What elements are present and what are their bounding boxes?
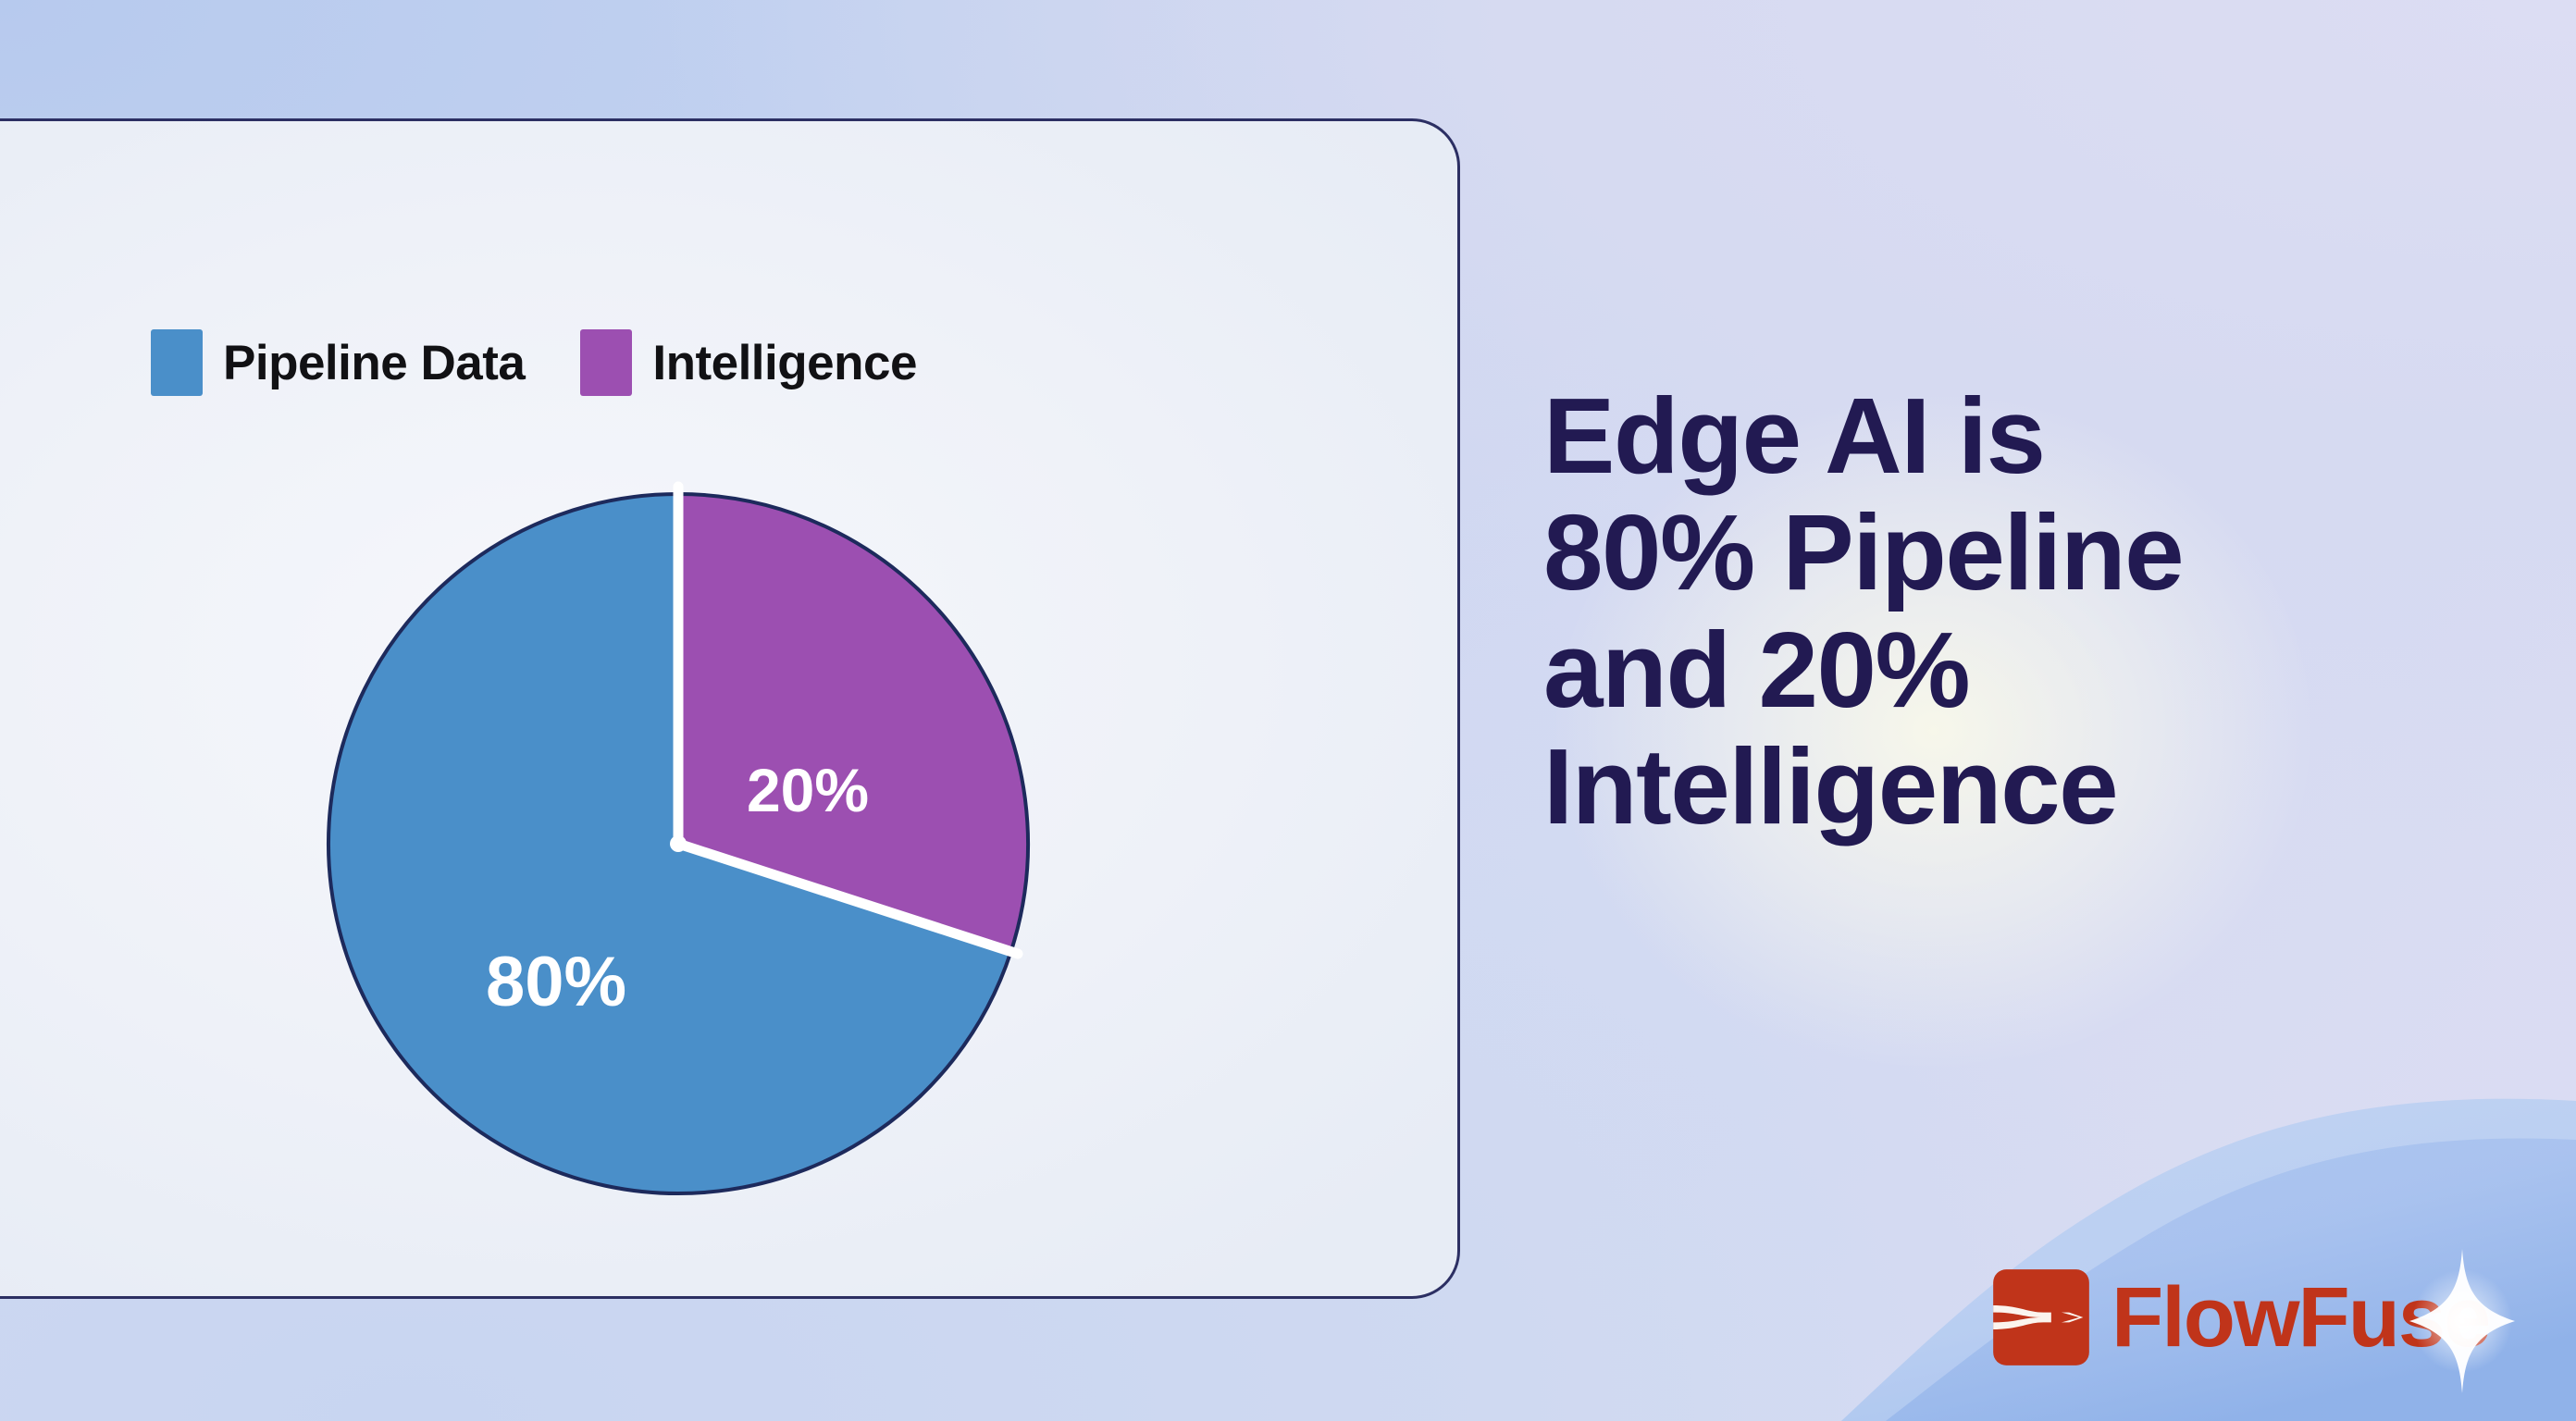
chart-card: Pipeline Data Intelligence 80% 20%: [0, 118, 1460, 1299]
chart-legend: Pipeline Data Intelligence: [151, 329, 917, 396]
flowfuse-wordmark: FlowFuse: [2112, 1275, 2489, 1360]
legend-label: Pipeline Data: [223, 335, 525, 391]
legend-label: Intelligence: [652, 335, 917, 391]
legend-item-pipeline-data[interactable]: Pipeline Data: [151, 329, 525, 396]
pie-value-label-intelligence: 20%: [747, 756, 869, 824]
headline-line: Edge AI is: [1543, 377, 2478, 494]
flowfuse-logo[interactable]: FlowFuse: [1991, 1267, 2489, 1367]
legend-item-intelligence[interactable]: Intelligence: [580, 329, 917, 396]
pie-chart: 80% 20%: [308, 474, 1048, 1214]
pie-center-dot: [670, 835, 687, 852]
headline-line: Intelligence: [1543, 728, 2478, 845]
pie-chart-svg: 80% 20%: [308, 474, 1048, 1214]
flowfuse-logo-icon: [1991, 1267, 2091, 1367]
pie-value-label-pipeline-data: 80%: [486, 943, 626, 1021]
legend-swatch-icon: [580, 329, 632, 396]
page-title: Edge AI is 80% Pipeline and 20% Intellig…: [1543, 377, 2478, 846]
headline-line: and 20%: [1543, 612, 2478, 728]
legend-swatch-icon: [151, 329, 203, 396]
headline-line: 80% Pipeline: [1543, 494, 2478, 611]
slide-canvas: Pipeline Data Intelligence 80% 20%: [0, 0, 2576, 1421]
